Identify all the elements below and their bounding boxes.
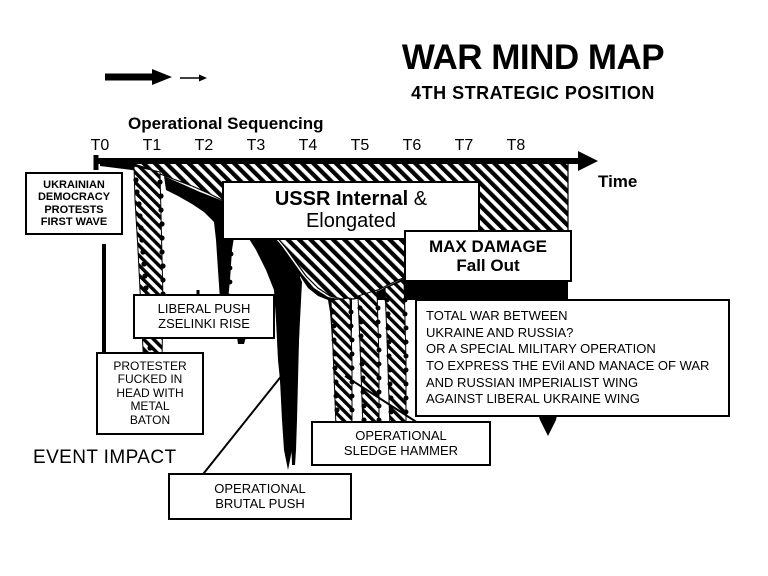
callout-line: UKRAINIAN [30, 179, 118, 191]
axis-tick-t3: T3 [242, 137, 270, 155]
callout-line: PROTESTS [30, 204, 118, 216]
callout-line: DEMOCRACY [30, 191, 118, 203]
callout-line: MAX DAMAGE [412, 237, 564, 256]
callout-protester[interactable]: PROTESTER FUCKED IN HEAD WITH METAL BATO… [96, 352, 204, 435]
callout-total-war[interactable]: TOTAL WAR BETWEEN UKRAINE AND RUSSIA? OR… [415, 299, 730, 417]
callout-line: OPERATIONAL [174, 482, 346, 497]
callout-line: TO EXPRESS THE EVil AND MANACE OF WAR [426, 358, 719, 375]
axis-tick-t4: T4 [294, 137, 322, 155]
callout-ukrainian-democracy[interactable]: UKRAINIAN DEMOCRACY PROTESTS FIRST WAVE [25, 172, 123, 235]
callout-line: TOTAL WAR BETWEEN [426, 308, 719, 325]
callout-brutal-push[interactable]: OPERATIONAL BRUTAL PUSH [168, 473, 352, 520]
callout-line: OR A SPECIAL MILITARY OPERATION [426, 341, 719, 358]
callout-line: BRUTAL PUSH [174, 497, 346, 512]
time-axis-label: Time [598, 172, 637, 192]
callout-max-damage[interactable]: MAX DAMAGE Fall Out [404, 230, 572, 282]
axis-tick-t1: T1 [138, 137, 166, 155]
thick-right-arrow-icon [105, 69, 172, 85]
axis-tick-t6: T6 [398, 137, 426, 155]
callout-line: ZSELINKI RISE [139, 317, 269, 332]
callout-line: BATON [102, 414, 198, 427]
callout-line: LIBERAL PUSH [139, 302, 269, 317]
event-impact-label: EVENT IMPACT [33, 447, 176, 469]
callout-line: Fall Out [412, 256, 564, 275]
ussr-bold-text: USSR Internal [275, 188, 408, 210]
callout-line: METAL [102, 400, 198, 413]
callout-line: UKRAINE AND RUSSIA? [426, 325, 719, 342]
mind-map-canvas: WAR MIND MAP 4TH STRATEGIC POSITION Oper… [0, 0, 768, 576]
callout-liberal-push[interactable]: LIBERAL PUSH ZSELINKI RISE [133, 294, 275, 339]
callout-line: AND RUSSIAN IMPERIALIST WING [426, 375, 719, 392]
callout-line: HEAD WITH [102, 387, 198, 400]
callout-line: OPERATIONAL [317, 429, 485, 444]
page-title: WAR MIND MAP [388, 40, 678, 75]
axis-tick-t2: T2 [190, 137, 218, 155]
axis-tick-t8: T8 [502, 137, 530, 155]
page-subtitle: 4TH STRATEGIC POSITION [388, 84, 678, 102]
callout-line: AGAINST LIBERAL UKRAINE WING [426, 391, 719, 408]
axis-tick-t7: T7 [450, 137, 478, 155]
axis-tick-t0: T0 [86, 137, 114, 155]
thin-right-arrow-icon [180, 75, 207, 82]
callout-line: SLEDGE HAMMER [317, 444, 485, 459]
callout-line: FUCKED IN [102, 373, 198, 386]
callout-sledge-hammer[interactable]: OPERATIONAL SLEDGE HAMMER [311, 421, 491, 466]
operational-sequencing-label: Operational Sequencing [128, 114, 324, 134]
callout-line: PROTESTER [102, 360, 198, 373]
callout-line: FIRST WAVE [30, 216, 118, 228]
axis-tick-t5: T5 [346, 137, 374, 155]
